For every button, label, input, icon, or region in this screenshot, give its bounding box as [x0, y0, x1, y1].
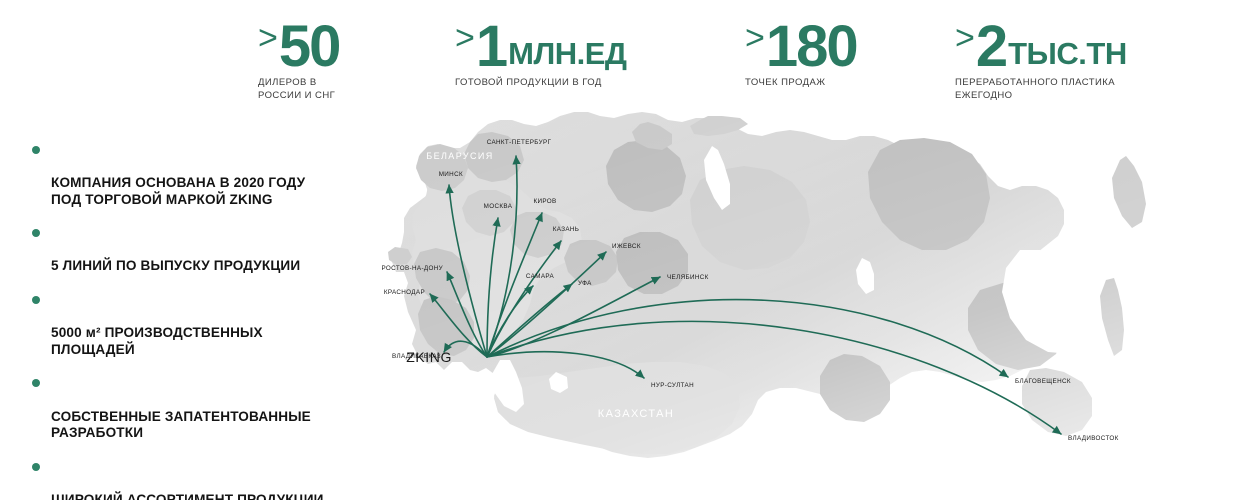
bullet-dot-icon — [32, 146, 40, 154]
bullet-dot-icon — [32, 379, 40, 387]
city-label-minsk[interactable]: МИНСК — [439, 171, 463, 178]
list-item-label: КОМПАНИЯ ОСНОВАНА В 2020 ГОДУ ПОД ТОРГОВ… — [51, 175, 305, 207]
stat-recycled-plastic-unit: ТЫС.ТН — [1008, 38, 1127, 69]
stat-sales-points: > 180 ТОЧЕК ПРОДАЖ — [745, 22, 857, 90]
stat-production: > 1 МЛН.ЕД ГОТОВОЙ ПРОДУКЦИИ В ГОД — [455, 22, 626, 90]
stat-sales-points-value: > 180 — [745, 22, 857, 71]
city-label-krasnodar[interactable]: КРАСНОДАР — [384, 289, 425, 296]
city-label-moscow[interactable]: МОСКВА — [484, 203, 513, 210]
infographic-page: БЕЛАРУСИЯ КАЗАХСТАН САНКТ-ПЕТЕРБУРГ МИНС… — [0, 0, 1250, 500]
greater-than-icon: > — [745, 21, 765, 55]
stat-recycled-plastic-subtitle: ПЕРЕРАБОТАННОГО ПЛАСТИКА ЕЖЕГОДНО — [955, 77, 1127, 103]
stat-production-number: 1 — [476, 22, 506, 71]
stat-sales-points-number: 180 — [766, 22, 857, 71]
list-item: 5 ЛИНИЙ ПО ВЫПУСКУ ПРОДУКЦИИ — [32, 225, 384, 275]
list-item-label: 5000 м² ПРОИЗВОДСТВЕННЫХ ПЛОЩАДЕЙ — [51, 325, 263, 357]
stat-dealers: > 50 ДИЛЕРОВ В РОССИИ И СНГ — [258, 22, 339, 103]
greater-than-icon: > — [955, 21, 975, 55]
list-item-label: ШИРОКИЙ АССОРТИМЕНТ ПРОДУКЦИИ — [51, 492, 324, 500]
city-label-ufa[interactable]: УФА — [578, 280, 592, 287]
city-label-izhevsk[interactable]: ИЖЕВСК — [612, 243, 641, 250]
city-label-kazan[interactable]: КАЗАНЬ — [553, 226, 580, 233]
hub-label-zking[interactable]: ZKING — [406, 349, 452, 365]
list-item-label: 5 ЛИНИЙ ПО ВЫПУСКУ ПРОДУКЦИИ — [51, 258, 300, 273]
list-item: ШИРОКИЙ АССОРТИМЕНТ ПРОДУКЦИИ — [32, 459, 384, 500]
country-label-kazakhstan: КАЗАХСТАН — [598, 408, 674, 420]
stat-production-value: > 1 МЛН.ЕД — [455, 22, 626, 71]
city-label-kirov[interactable]: КИРОВ — [533, 198, 556, 205]
city-label-saint-petersburg[interactable]: САНКТ-ПЕТЕРБУРГ — [487, 139, 552, 146]
stat-dealers-subtitle: ДИЛЕРОВ В РОССИИ И СНГ — [258, 77, 339, 103]
stat-recycled-plastic-value: > 2 ТЫС.ТН — [955, 22, 1127, 71]
stats-row: > 50 ДИЛЕРОВ В РОССИИ И СНГ > 1 МЛН.ЕД Г… — [0, 0, 1250, 115]
city-label-rostov-on-don[interactable]: РОСТОВ-НА-ДОНУ — [381, 265, 443, 272]
stat-recycled-plastic: > 2 ТЫС.ТН ПЕРЕРАБОТАННОГО ПЛАСТИКА ЕЖЕГ… — [955, 22, 1127, 103]
greater-than-icon: > — [258, 21, 278, 55]
country-label-belarus: БЕЛАРУСИЯ — [426, 151, 493, 161]
list-item: 5000 м² ПРОИЗВОДСТВЕННЫХ ПЛОЩАДЕЙ — [32, 292, 384, 358]
bullet-dot-icon — [32, 229, 40, 237]
stat-recycled-plastic-number: 2 — [976, 22, 1006, 71]
city-label-nur-sultan[interactable]: НУР-СУЛТАН — [651, 382, 694, 389]
city-label-vladivostok[interactable]: ВЛАДИВОСТОК — [1068, 435, 1119, 442]
stat-sales-points-subtitle: ТОЧЕК ПРОДАЖ — [745, 77, 857, 90]
city-label-chelyabinsk[interactable]: ЧЕЛЯБИНСК — [667, 274, 709, 281]
stat-dealers-value: > 50 — [258, 22, 339, 71]
list-item-label: СОБСТВЕННЫЕ ЗАПАТЕНТОВАННЫЕ РАЗРАБОТКИ — [51, 409, 311, 441]
list-item: СОБСТВЕННЫЕ ЗАПАТЕНТОВАННЫЕ РАЗРАБОТКИ — [32, 375, 384, 441]
list-item: КОМПАНИЯ ОСНОВАНА В 2020 ГОДУ ПОД ТОРГОВ… — [32, 142, 384, 208]
bullet-dot-icon — [32, 463, 40, 471]
stat-production-subtitle: ГОТОВОЙ ПРОДУКЦИИ В ГОД — [455, 77, 626, 90]
stat-dealers-number: 50 — [279, 22, 340, 71]
features-list: КОМПАНИЯ ОСНОВАНА В 2020 ГОДУ ПОД ТОРГОВ… — [32, 142, 384, 500]
bullet-dot-icon — [32, 296, 40, 304]
city-label-blagoveshchensk[interactable]: БЛАГОВЕЩЕНСК — [1015, 378, 1071, 385]
stat-production-unit: МЛН.ЕД — [508, 38, 626, 69]
city-label-samara[interactable]: САМАРА — [526, 273, 555, 280]
greater-than-icon: > — [455, 21, 475, 55]
